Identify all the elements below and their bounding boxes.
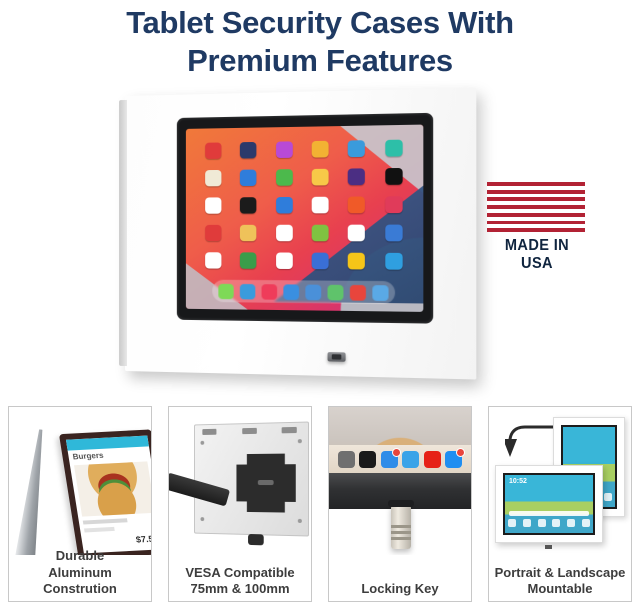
app-icon	[312, 141, 329, 158]
feature-panel-portrait-landscape: 10:52	[480, 400, 640, 608]
enclosure-side-edge	[119, 100, 127, 366]
tablet-bezel	[177, 113, 433, 324]
aluminum-bar-icon	[15, 428, 50, 555]
menu-text-line-1	[83, 518, 128, 524]
app-icon	[567, 519, 575, 527]
app-icon	[385, 196, 402, 213]
app-icon	[205, 225, 221, 241]
menu-app-header	[66, 436, 149, 451]
app-icon	[582, 519, 590, 527]
tablet-foot	[545, 545, 552, 549]
vesa-locking-knob	[248, 534, 264, 545]
lock-cylinder-icon	[328, 352, 346, 362]
caption-line-2: Aluminum Constrution	[11, 565, 149, 598]
feature-panel-durable-aluminum: Burgers $7.50 Durable Aluminum Construti…	[0, 400, 160, 608]
ipad-dock	[329, 445, 471, 473]
app-icon	[205, 170, 221, 186]
landscape-mounted-tablet: 10:52	[495, 465, 603, 543]
tilted-tablet: Burgers $7.50	[59, 429, 151, 555]
youtube-icon	[424, 451, 441, 468]
vesa-compatible-art	[169, 407, 311, 555]
tablet-security-enclosure	[125, 87, 476, 379]
app-icon	[348, 196, 365, 213]
dock-app-icon	[372, 285, 388, 301]
app-icon	[276, 225, 293, 241]
home-screen-dock	[212, 280, 395, 305]
camera-icon	[338, 451, 355, 468]
feature-caption-durable-aluminum: Durable Aluminum Constrution	[11, 548, 149, 597]
app-icon	[240, 170, 256, 187]
landscape-tablet-screen: 10:52	[503, 473, 595, 535]
menu-price: $7.50	[135, 534, 151, 545]
feature-panel-frame: 10:52	[488, 406, 632, 602]
app-icon	[205, 197, 221, 213]
mail-icon	[381, 451, 398, 468]
flag-stripe	[487, 228, 585, 232]
app-icon	[276, 169, 293, 186]
dock-app-icon	[283, 284, 299, 300]
app-icon	[385, 225, 402, 242]
caption-line-2: Mountable	[491, 581, 629, 597]
dock-app-icon	[218, 283, 233, 298]
plate-screw	[200, 517, 204, 521]
feature-panel-frame: Burgers $7.50 Durable Aluminum Construti…	[8, 406, 152, 602]
page-title-line-2: Premium Features	[0, 42, 640, 80]
app-icon	[276, 252, 293, 269]
page-title: Tablet Security Cases With Premium Featu…	[0, 0, 640, 80]
portrait-landscape-art: 10:52	[489, 407, 631, 555]
vesa-mount-bracket-icon	[236, 453, 295, 512]
app-icon	[240, 252, 256, 268]
app-icon	[312, 197, 329, 214]
caption-line-1: Durable	[56, 548, 104, 563]
made-in-usa-badge: MADE IN USA	[487, 182, 587, 273]
app-icon	[348, 168, 365, 185]
feature-caption-locking-key: Locking Key	[331, 581, 469, 597]
plate-screw	[298, 519, 302, 523]
app-icon	[205, 252, 221, 268]
dock-app-icon	[240, 283, 255, 298]
app-icon	[240, 197, 256, 213]
tilted-tablet-screen: Burgers $7.50	[66, 436, 151, 554]
home-screen-app-grid	[196, 139, 412, 269]
caption-line-1: Locking Key	[361, 581, 438, 596]
app-icon	[348, 225, 365, 242]
app-icon	[523, 519, 531, 527]
dock-app-icon	[350, 284, 366, 300]
plate-tab	[202, 429, 216, 435]
dock-app-icon	[328, 284, 344, 300]
feature-panel-locking-key: Locking Key	[320, 400, 480, 608]
tablet-clock: 10:52	[509, 478, 527, 485]
landscape-icon-row	[508, 519, 590, 530]
notification-badge	[392, 448, 401, 457]
app-icon	[348, 140, 365, 157]
vesa-back-plate	[194, 421, 309, 536]
app-icon	[385, 253, 402, 270]
app-icon	[385, 168, 402, 185]
app-icon	[276, 197, 293, 214]
app-icon	[240, 142, 256, 159]
menu-text-line-2	[84, 527, 115, 533]
app-icon	[385, 140, 402, 157]
amazon-icon	[359, 451, 376, 468]
app-icon	[312, 169, 329, 186]
app-icon	[604, 493, 612, 501]
caption-line-1: VESA Compatible	[185, 565, 294, 580]
plate-tab	[282, 427, 297, 433]
notification-badge	[456, 448, 465, 457]
locking-key-art	[329, 407, 471, 555]
menu-title: Burgers	[72, 451, 104, 462]
app-icon	[240, 225, 256, 241]
app-icon	[312, 253, 329, 270]
app-store-icon	[445, 451, 462, 468]
app-icon	[312, 225, 329, 242]
caption-line-2: 75mm & 100mm	[171, 581, 309, 597]
plate-tab	[242, 428, 257, 434]
safari-icon	[402, 451, 419, 468]
feature-panels: Burgers $7.50 Durable Aluminum Construti…	[0, 400, 640, 608]
landscape-tablet-wallpaper: 10:52	[505, 475, 593, 533]
plate-screw	[200, 441, 204, 445]
caption-line-1: Portrait & Landscape	[495, 565, 626, 580]
feature-caption-portrait-landscape: Portrait & Landscape Mountable	[491, 565, 629, 598]
search-bar	[509, 511, 589, 516]
rotate-arrow-icon	[505, 421, 559, 469]
app-icon	[276, 141, 293, 158]
page-title-line-1: Tablet Security Cases With	[0, 4, 640, 42]
plate-screw	[298, 439, 302, 443]
usa-flag-icon	[487, 182, 585, 232]
app-icon	[205, 142, 221, 158]
burger-photo	[74, 461, 151, 516]
durable-aluminum-art: Burgers $7.50	[9, 407, 151, 555]
feature-panel-frame: Locking Key	[328, 406, 472, 602]
made-in-usa-label: MADE IN USA	[490, 237, 584, 273]
tablet-screen	[186, 125, 423, 312]
app-icon	[508, 519, 516, 527]
dock-app-icon	[305, 284, 321, 300]
app-icon	[538, 519, 546, 527]
app-icon	[552, 519, 560, 527]
locking-key-icon	[391, 505, 411, 549]
feature-panel-vesa-compatible: VESA Compatible 75mm & 100mm	[160, 400, 320, 608]
dock-app-icon	[262, 284, 278, 300]
feature-panel-frame: VESA Compatible 75mm & 100mm	[168, 406, 312, 602]
feature-caption-vesa-compatible: VESA Compatible 75mm & 100mm	[171, 565, 309, 598]
app-icon	[348, 253, 365, 270]
